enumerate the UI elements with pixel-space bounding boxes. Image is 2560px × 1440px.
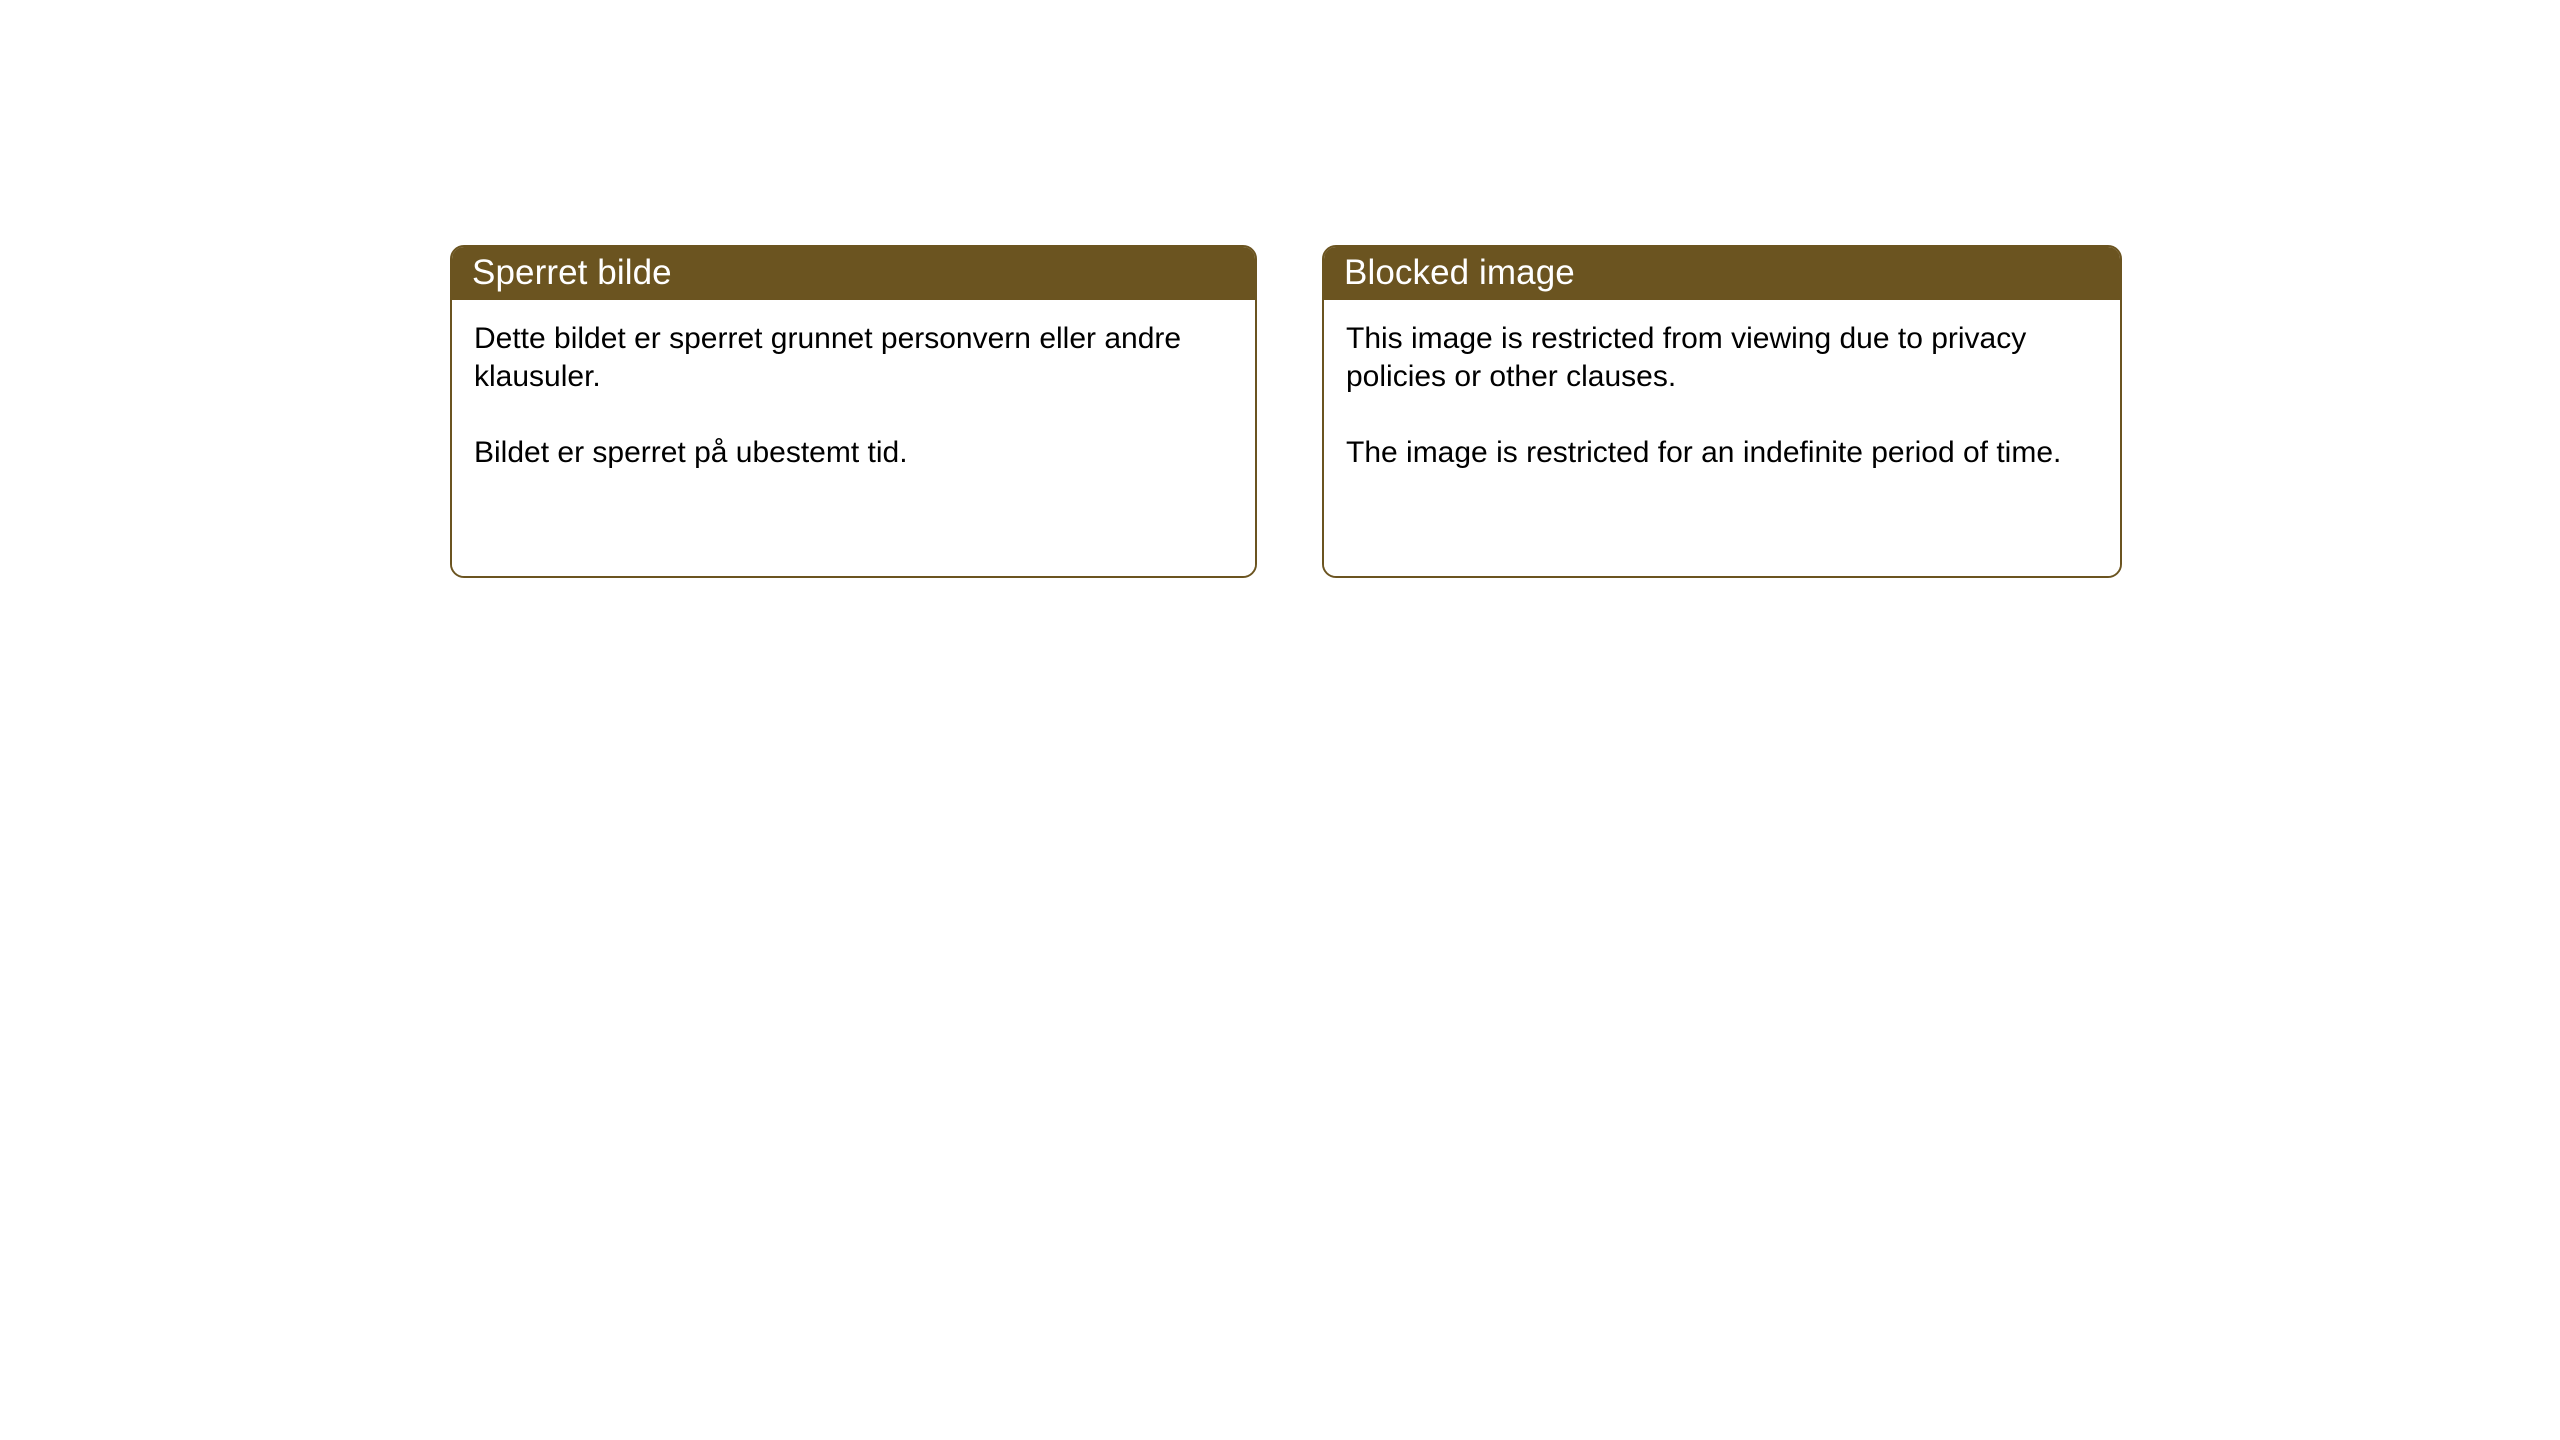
page-root: Sperret bilde Dette bildet er sperret gr… xyxy=(0,0,2560,1440)
card-title-norwegian: Sperret bilde xyxy=(472,255,672,290)
paragraph-spacer xyxy=(474,396,1235,434)
blocked-image-card-norwegian: Sperret bilde Dette bildet er sperret gr… xyxy=(450,245,1257,578)
card-body-english: This image is restricted from viewing du… xyxy=(1324,300,2120,576)
card-header-english: Blocked image xyxy=(1322,245,2122,300)
notice-card-group: Sperret bilde Dette bildet er sperret gr… xyxy=(450,245,2122,578)
card-paragraph-secondary-norwegian: Bildet er sperret på ubestemt tid. xyxy=(474,434,1235,472)
card-paragraph-secondary-english: The image is restricted for an indefinit… xyxy=(1346,434,2100,472)
blocked-image-card-english: Blocked image This image is restricted f… xyxy=(1322,245,2122,578)
paragraph-spacer xyxy=(1346,396,2100,434)
card-paragraph-primary-english: This image is restricted from viewing du… xyxy=(1346,320,2100,396)
card-body-norwegian: Dette bildet er sperret grunnet personve… xyxy=(452,300,1255,576)
card-header-norwegian: Sperret bilde xyxy=(450,245,1257,300)
card-title-english: Blocked image xyxy=(1344,255,1575,290)
card-paragraph-primary-norwegian: Dette bildet er sperret grunnet personve… xyxy=(474,320,1235,396)
